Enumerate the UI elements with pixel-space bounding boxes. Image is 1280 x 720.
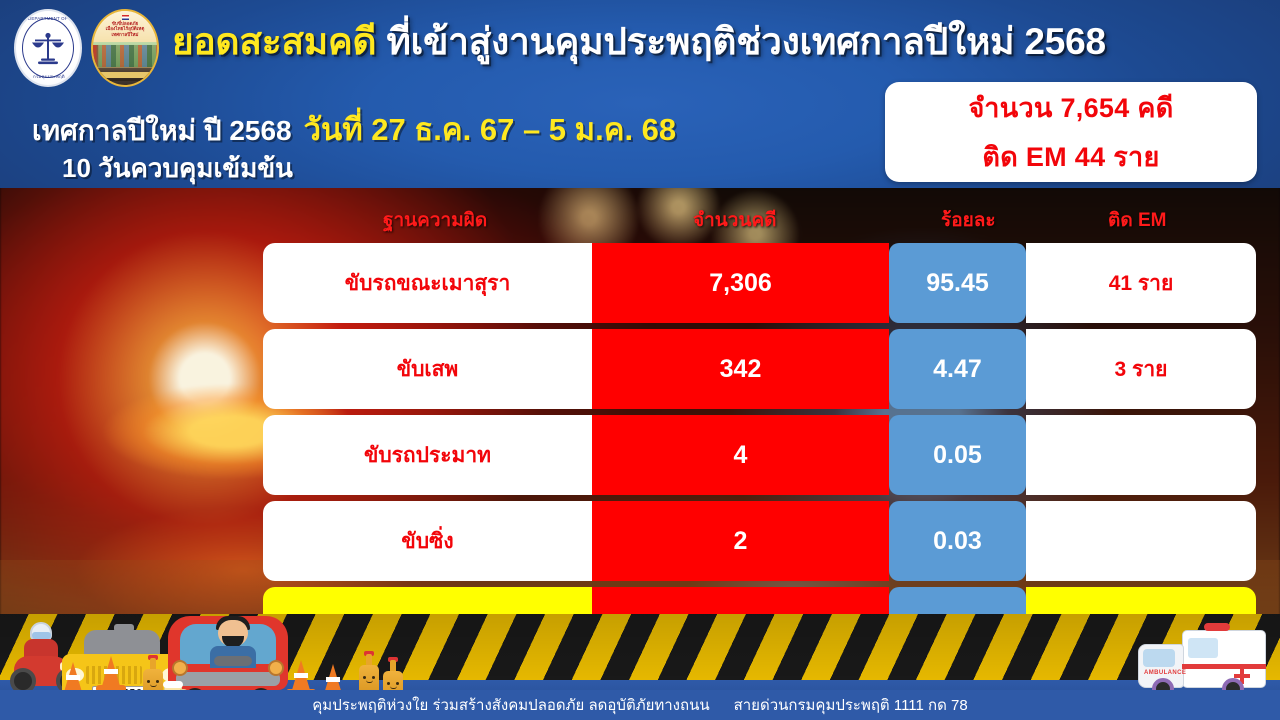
infographic-poster: DEPARTMENT OF PROBATION กรมคุมประพฤติ ขั… — [0, 0, 1280, 720]
enforcement-days-label: 10 วันควบคุมเข้มข้น — [62, 148, 293, 189]
table-row: ขับซิ่ง 2 0.03 — [263, 501, 1256, 581]
table-row: ขับเสพ 342 4.47 3 ราย — [263, 329, 1256, 409]
period-label: เทศกาลปีใหม่ ปี 2568วันที่ 27 ธ.ค. 67 – … — [32, 104, 676, 154]
seal-banner — [98, 72, 152, 79]
page-title-rest: ที่เข้าสู่งานคุมประพฤติช่วงเทศกาลปีใหม่ … — [386, 21, 1105, 62]
summary-callout-box: จำนวน 7,654 คดี ติด EM 44 ราย — [885, 82, 1257, 182]
cell-percent: 0.03 — [889, 501, 1026, 581]
summary-total-cases: จำนวน 7,654 คดี — [968, 86, 1173, 129]
seal-text: ขับขี่ปลอดภัย เมืองไทยไร้อุบัติเหตุ เทศก… — [93, 21, 157, 38]
seal-ring-text: DEPARTMENT OF PROBATION กรมคุมประพฤติ — [16, 11, 80, 85]
cell-em — [1026, 415, 1256, 495]
table-row: ขับรถขณะเมาสุรา 7,306 95.45 41 ราย — [263, 243, 1256, 323]
header-banner: DEPARTMENT OF PROBATION กรมคุมประพฤติ ขั… — [0, 0, 1280, 188]
probation-department-seal-icon: DEPARTMENT OF PROBATION กรมคุมประพฤติ — [14, 9, 82, 87]
table-header-row: ฐานความผิด จำนวนคดี ร้อยละ ติด EM — [263, 205, 1256, 237]
period-dates: วันที่ 27 ธ.ค. 67 – 5 ม.ค. 68 — [304, 112, 677, 147]
cell-cases: 4 — [592, 415, 889, 495]
cell-em — [1026, 501, 1256, 581]
cell-em: 3 ราย — [1026, 329, 1256, 409]
footer-slogan: คุมประพฤติห่วงใย ร่วมสร้างสังคมปลอดภัย ล… — [312, 693, 709, 717]
thai-flag-icon — [122, 15, 129, 20]
cell-offense: ขับรถประมาท — [263, 415, 592, 495]
traffic-cone-icon — [96, 656, 126, 692]
new-year-campaign-seal-icon: ขับขี่ปลอดภัย เมืองไทยไร้อุบัติเหตุ เทศก… — [91, 9, 159, 87]
table-row: ขับรถประมาท 4 0.05 — [263, 415, 1256, 495]
footer-bar: คุมประพฤติห่วงใย ร่วมสร้างสังคมปลอดภัย ล… — [0, 690, 1280, 720]
summary-em-count: ติด EM 44 ราย — [982, 135, 1159, 178]
column-header-percent: ร้อยละ — [941, 205, 996, 235]
ambulance-label: AMBULANCE — [1144, 670, 1186, 676]
cell-percent: 95.45 — [889, 243, 1026, 323]
cell-percent: 4.47 — [889, 329, 1026, 409]
statistics-table: ขับรถขณะเมาสุรา 7,306 95.45 41 ราย ขับเส… — [263, 243, 1256, 673]
cell-cases: 2 — [592, 501, 889, 581]
logo-group: DEPARTMENT OF PROBATION กรมคุมประพฤติ ขั… — [14, 9, 159, 87]
seal-cityscape — [93, 45, 157, 67]
page-title: ยอดสะสมคดี ที่เข้าสู่งานคุมประพฤติช่วงเท… — [172, 22, 1268, 62]
period-festival: เทศกาลปีใหม่ ปี 2568 — [32, 115, 292, 146]
column-header-cases: จำนวนคดี — [693, 205, 777, 235]
page-title-highlight: ยอดสะสมคดี — [172, 21, 376, 62]
column-header-offense: ฐานความผิด — [383, 205, 487, 235]
cell-em: 41 ราย — [1026, 243, 1256, 323]
footer-hotline: สายด่วนกรมคุมประพฤติ 1111 กด 78 — [734, 693, 968, 717]
cell-offense: ขับซิ่ง — [263, 501, 592, 581]
cell-offense: ขับเสพ — [263, 329, 592, 409]
cell-cases: 7,306 — [592, 243, 889, 323]
cell-cases: 342 — [592, 329, 889, 409]
cell-percent: 0.05 — [889, 415, 1026, 495]
cell-offense: ขับรถขณะเมาสุรา — [263, 243, 592, 323]
column-header-em: ติด EM — [1108, 205, 1166, 235]
